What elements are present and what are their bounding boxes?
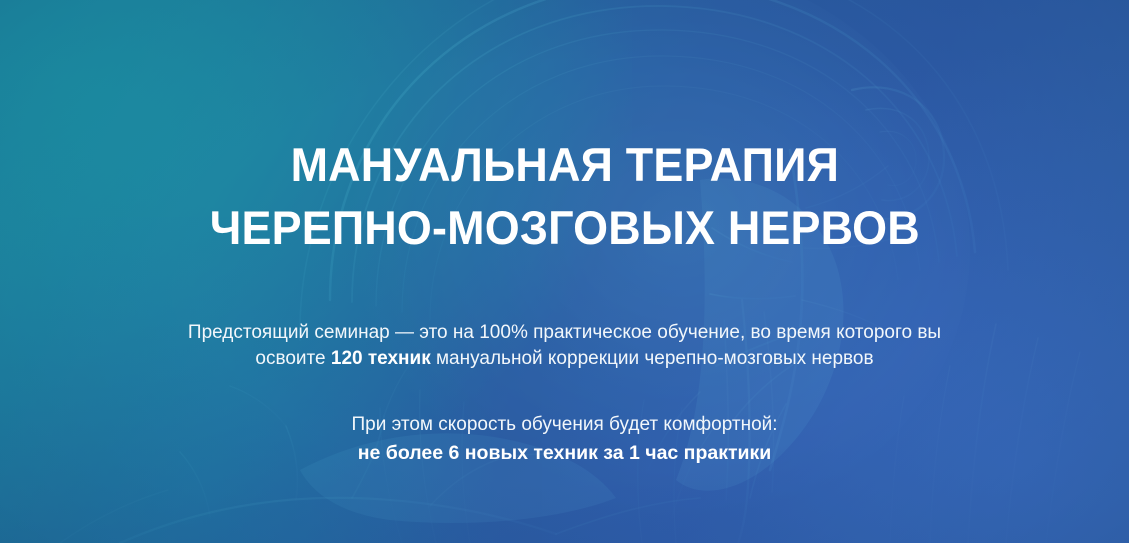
closer-emphasis: не более 6 новых техник за 1 час практик…	[351, 440, 777, 466]
lede-block: Предстоящий семинар — это на 100% практи…	[145, 320, 985, 371]
lede-highlight: 120 техник	[331, 348, 431, 369]
page-title: МАНУАЛЬНАЯ ТЕРАПИЯ ЧЕРЕПНО-МОЗГОВЫХ НЕРВ…	[171, 133, 958, 259]
closer-block: При этом скорость обучения будет комфорт…	[311, 412, 817, 466]
headline-block: МАНУАЛЬНАЯ ТЕРАПИЯ ЧЕРЕПНО-МОЗГОВЫХ НЕРВ…	[153, 133, 977, 259]
lede-text-part-2: мануальной коррекции черепно-мозговых не…	[431, 348, 874, 369]
closer-paragraph: При этом скорость обучения будет комфорт…	[311, 412, 817, 466]
closer-intro: При этом скорость обучения будет комфорт…	[351, 414, 777, 435]
lede-paragraph: Предстоящий семинар — это на 100% практи…	[145, 320, 985, 371]
hero-banner: МАНУАЛЬНАЯ ТЕРАПИЯ ЧЕРЕПНО-МОЗГОВЫХ НЕРВ…	[0, 0, 1129, 543]
hero-content: МАНУАЛЬНАЯ ТЕРАПИЯ ЧЕРЕПНО-МОЗГОВЫХ НЕРВ…	[0, 0, 1129, 543]
headline-line-1: МАНУАЛЬНАЯ ТЕРАПИЯ	[209, 133, 919, 196]
headline-line-2: ЧЕРЕПНО-МОЗГОВЫХ НЕРВОВ	[209, 196, 919, 259]
